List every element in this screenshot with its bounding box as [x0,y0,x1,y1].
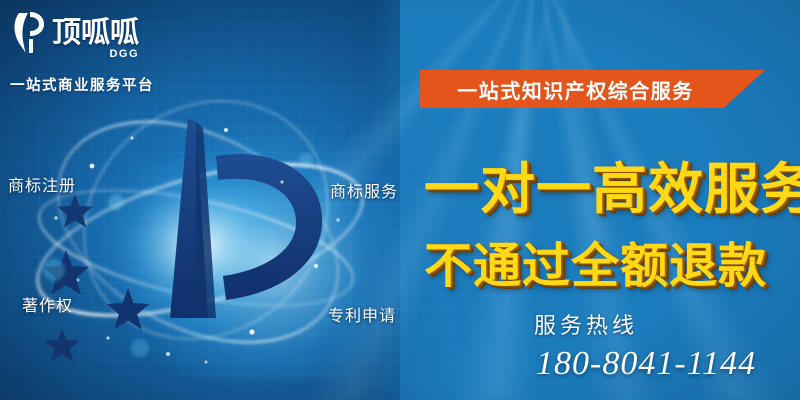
service-label-patent-application: 专利申请 [328,302,396,326]
promo-headline-secondary: 不通过全额退款 [424,226,767,296]
advertising-banner: 顶呱呱 DGG 一站式商业服务平台 商标注册 商标服务 著作权 专利申请 一站式… [0,0,800,400]
logo-wordmark: 顶呱呱 DGG [52,18,139,47]
promo-headline-primary: 一对一高效服务 [424,144,800,224]
service-label-trademark-service: 商标服务 [330,178,398,202]
logo-brand-cn: 顶呱呱 [52,18,139,47]
logo-brand-en: DGG [109,48,139,60]
logo-tagline: 一站式商业服务平台 [10,74,200,95]
promo-ribbon: 一站式知识产权综合服务 [420,70,765,108]
brand-logo[interactable]: 顶呱呱 DGG 一站式商业服务平台 [10,6,200,92]
hotline-label: 服务热线 [534,308,638,340]
service-label-trademark-registration: 商标注册 [8,172,76,196]
dgg-flame-mark-icon [10,9,48,55]
hotline-number[interactable]: 180-8041-1144 [536,345,756,383]
logo-row: 顶呱呱 DGG [10,6,200,58]
promo-ribbon-text: 一站式知识产权综合服务 [457,75,694,104]
service-label-copyright: 著作权 [22,292,73,316]
